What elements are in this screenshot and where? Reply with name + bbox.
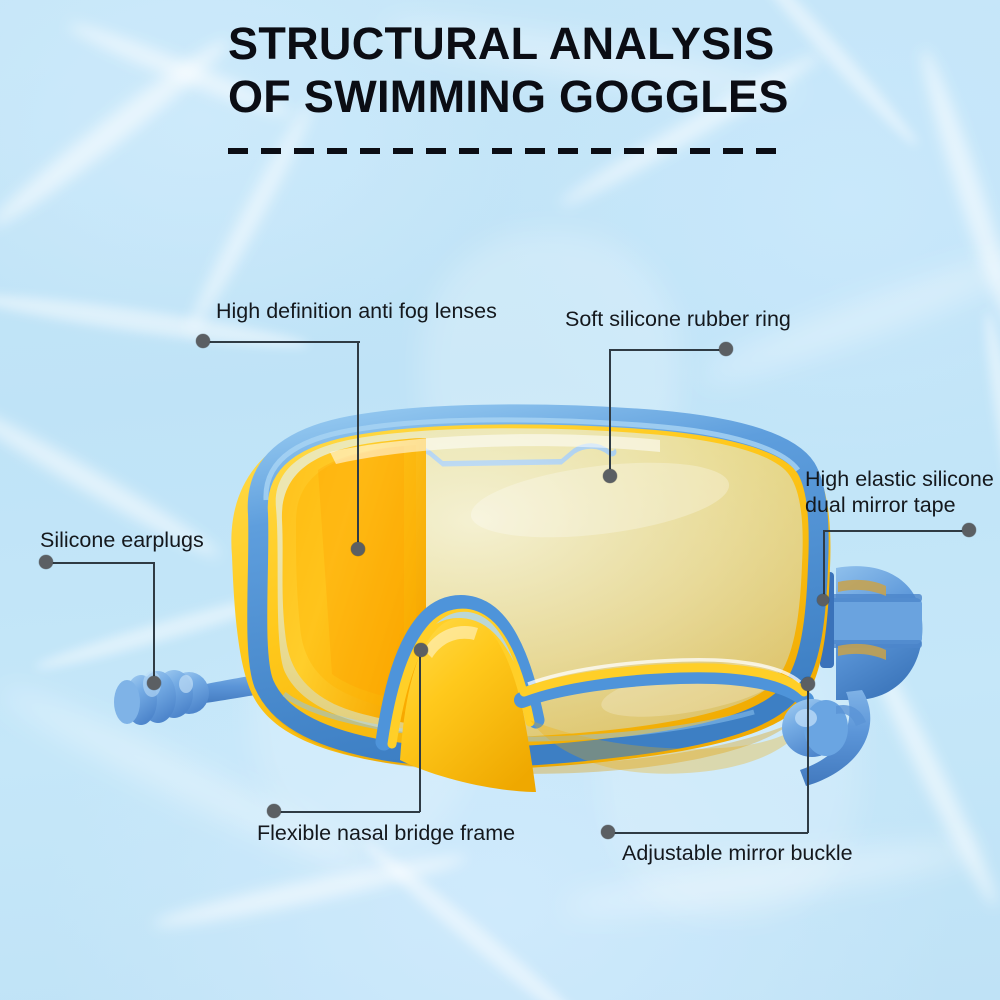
leader-line-vertical	[807, 684, 809, 833]
callout-label-line-2: dual mirror tape	[805, 493, 956, 517]
leader-line-horizontal	[276, 811, 420, 813]
leader-line-horizontal	[609, 349, 722, 351]
callout-target-dot	[801, 677, 815, 691]
callout-anchor-dot	[196, 334, 210, 348]
leader-line-vertical	[823, 530, 825, 600]
callout-label-hd-anti-fog-lenses: High definition anti fog lenses	[216, 298, 497, 324]
leader-line-vertical	[419, 649, 421, 812]
leader-line-horizontal	[823, 530, 965, 532]
callout-target-dot	[817, 594, 829, 606]
callout-anchor-dot	[719, 342, 733, 356]
callout-target-dot	[147, 676, 161, 690]
leader-line-vertical	[153, 562, 155, 683]
infographic-page: STRUCTURAL ANALYSIS OF SWIMMING GOGGLES	[0, 0, 1000, 1000]
callout-target-dot	[603, 469, 617, 483]
callout-label-soft-silicone-rubber-ring: Soft silicone rubber ring	[565, 306, 791, 332]
callout-anchor-dot	[601, 825, 615, 839]
leader-line-horizontal	[612, 832, 808, 834]
callout-target-dot	[414, 643, 428, 657]
callout-label-line-1: High elastic silicone	[805, 467, 994, 491]
callout-anchor-dot	[962, 523, 976, 537]
callout-anchor-dot	[39, 555, 53, 569]
callout-label-adjustable-mirror-buckle: Adjustable mirror buckle	[622, 840, 853, 866]
leader-line-horizontal	[208, 341, 360, 343]
callout-target-dot	[351, 542, 365, 556]
callout-anchor-dot	[267, 804, 281, 818]
leader-line-vertical	[609, 349, 611, 476]
leader-line-vertical	[357, 341, 359, 549]
callout-label-high-elastic-dual-mirror-tape: High elastic silicone dual mirror tape	[805, 466, 995, 518]
leader-line-horizontal	[47, 562, 155, 564]
callout-label-flexible-nasal-bridge-frame: Flexible nasal bridge frame	[257, 820, 515, 846]
callout-label-silicone-earplugs: Silicone earplugs	[40, 527, 204, 553]
